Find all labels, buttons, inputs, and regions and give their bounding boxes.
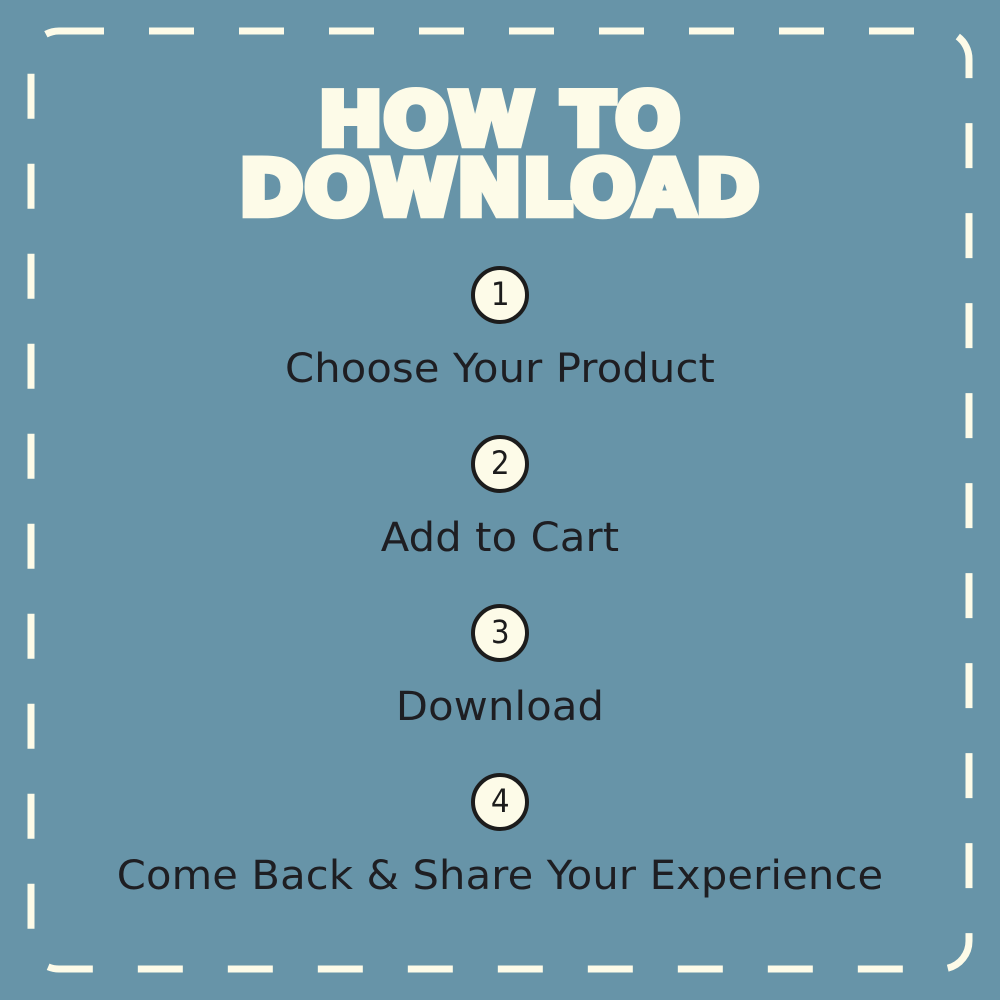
- step-number-4: 4: [491, 785, 510, 817]
- title-line-download: DOWNLOAD: [0, 153, 1000, 226]
- step-number-1: 1: [491, 278, 510, 310]
- step-label-3: Download: [0, 685, 1000, 729]
- step-item-1: 1 Choose Your Product: [0, 266, 1000, 435]
- step-item-3: 3 Download: [0, 604, 1000, 773]
- step-label-2: Add to Cart: [0, 516, 1000, 560]
- step-label-1: Choose Your Product: [0, 347, 1000, 391]
- steps-list: 1 Choose Your Product 2 Add to Cart 3 Do…: [0, 266, 1000, 942]
- step-item-4: 4 Come Back & Share Your Experience: [0, 773, 1000, 942]
- step-badge-4: 4: [471, 773, 529, 831]
- step-badge-3: 3: [471, 604, 529, 662]
- page-title: HOW TO DOWNLOAD: [0, 86, 1000, 220]
- step-label-4: Come Back & Share Your Experience: [0, 854, 1000, 898]
- step-number-3: 3: [491, 616, 510, 648]
- step-number-2: 2: [491, 447, 510, 479]
- step-badge-2: 2: [471, 435, 529, 493]
- step-item-2: 2 Add to Cart: [0, 435, 1000, 604]
- how-to-download-poster: HOW TO DOWNLOAD 1 Choose Your Product 2 …: [0, 0, 1000, 1000]
- step-badge-1: 1: [471, 266, 529, 324]
